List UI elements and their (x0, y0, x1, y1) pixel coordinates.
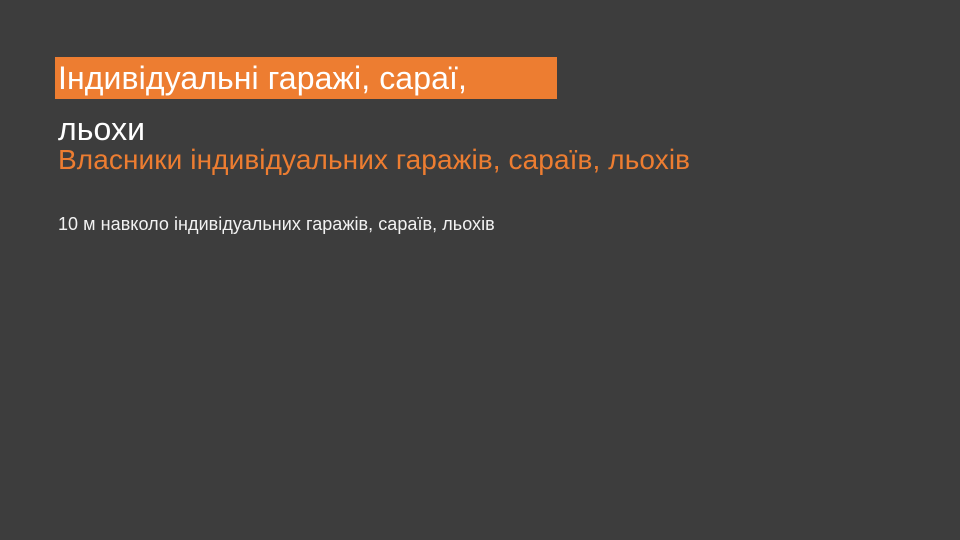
slide-title-line-1: Індивідуальні гаражі, сараї, (55, 57, 557, 99)
slide-sub-heading: Власники індивідуальних гаражів, сараїв,… (58, 143, 690, 177)
slide-body-text: 10 м навколо індивідуальних гаражів, сар… (58, 211, 495, 237)
slide-canvas: Індивідуальні гаражі, сараї, льохи Власн… (0, 0, 960, 540)
slide-title: Індивідуальні гаражі, сараї, льохи (55, 57, 695, 150)
slide-content-area (55, 250, 905, 510)
